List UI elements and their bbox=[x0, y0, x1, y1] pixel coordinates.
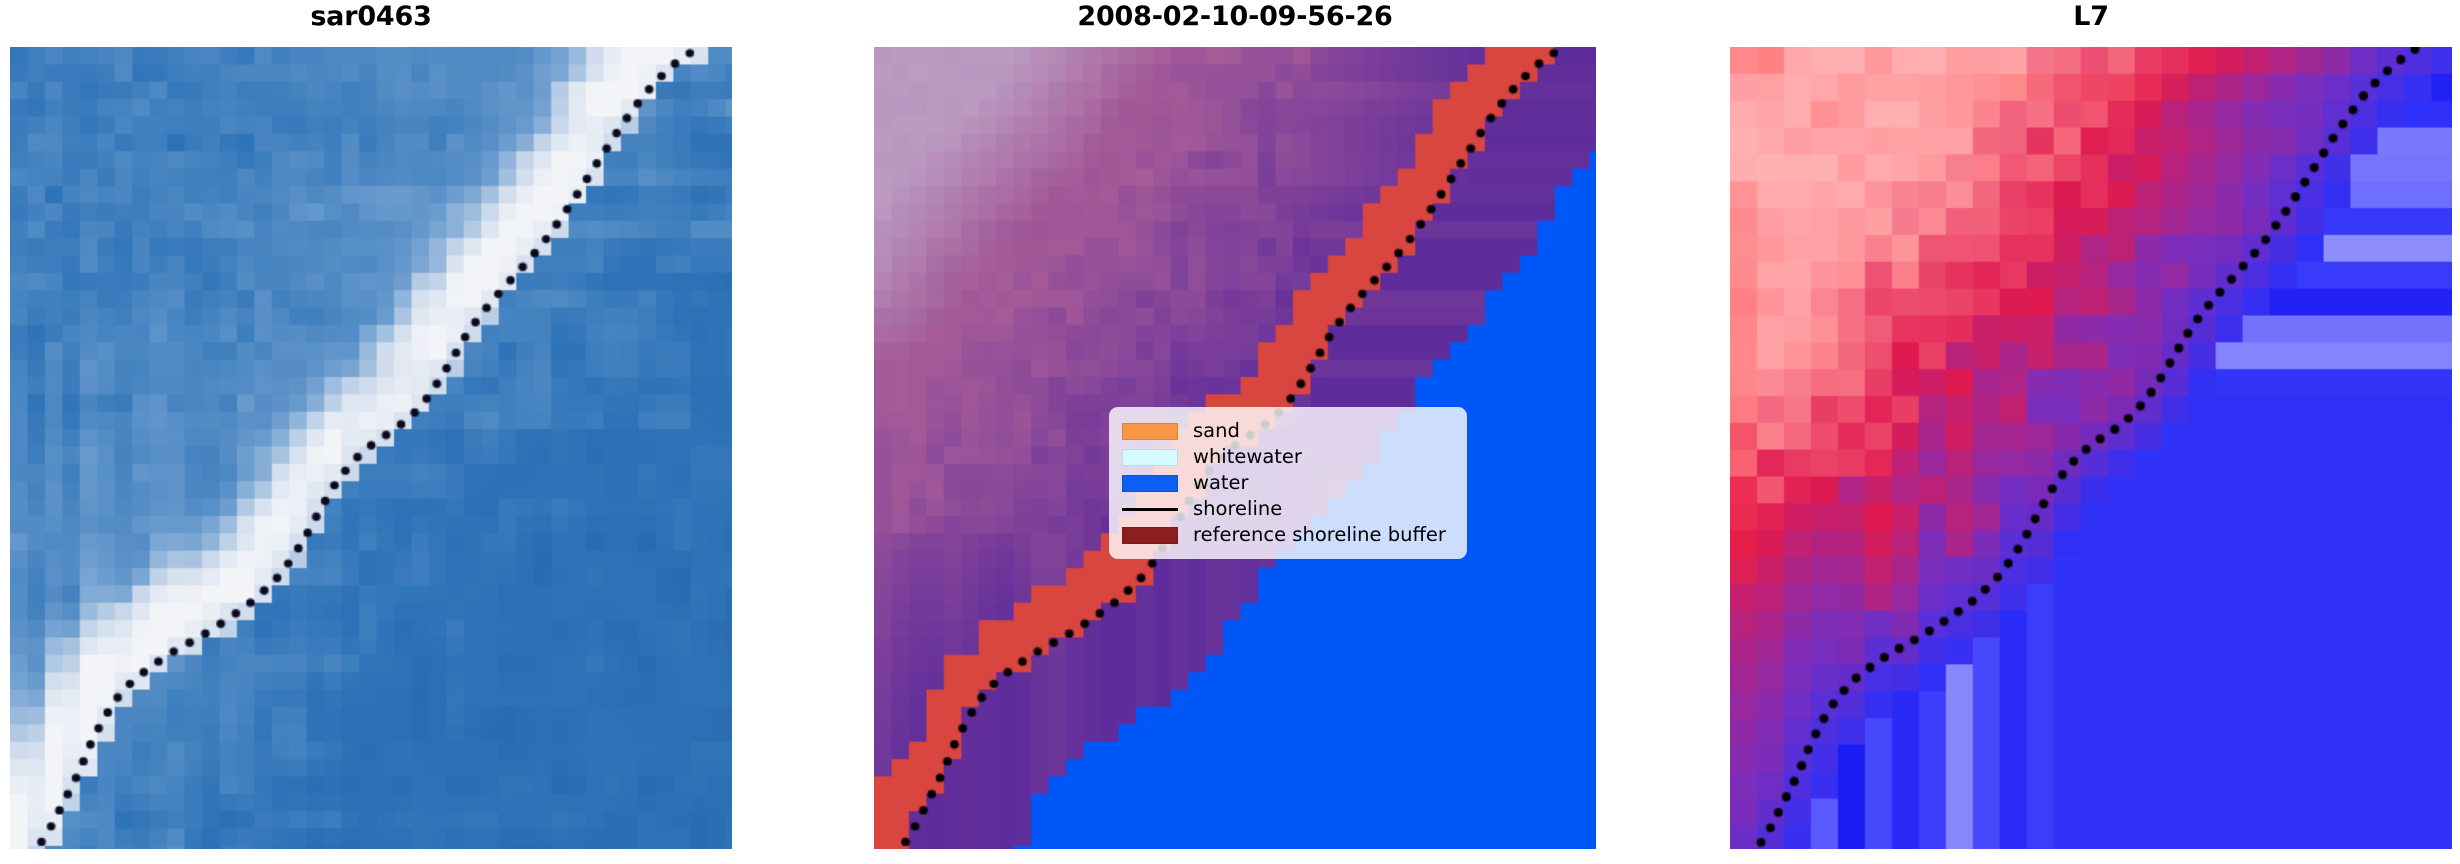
legend-swatch-water bbox=[1122, 475, 1178, 492]
legend-label-whitewater: whitewater bbox=[1193, 447, 1302, 467]
legend-item-water: water bbox=[1122, 470, 1453, 496]
panel-title-l7: L7 bbox=[1730, 0, 2452, 34]
sar-image bbox=[10, 47, 732, 849]
legend-item-whitewater: whitewater bbox=[1122, 444, 1453, 470]
legend-label-reference-buffer: reference shoreline buffer bbox=[1193, 525, 1446, 545]
legend-item-reference-buffer: reference shoreline buffer bbox=[1122, 522, 1453, 548]
legend-swatch-shoreline bbox=[1122, 501, 1178, 518]
legend-swatch-whitewater bbox=[1122, 449, 1178, 466]
axes-sar bbox=[10, 47, 732, 849]
legend-item-shoreline: shoreline bbox=[1122, 496, 1453, 522]
l7-image bbox=[1730, 47, 2452, 849]
panel-title-sar: sar0463 bbox=[10, 0, 732, 34]
legend-box: sand whitewater water shoreline bbox=[1109, 407, 1467, 559]
panel-l7: L7 bbox=[1730, 0, 2452, 864]
panel-classified: 2008-02-10-09-56-26 sand whitewater bbox=[874, 0, 1596, 864]
legend-swatch-reference-buffer bbox=[1122, 527, 1178, 544]
panel-title-classified: 2008-02-10-09-56-26 bbox=[874, 0, 1596, 34]
figure-canvas: sar0463 2008-02-10-09-56-26 sand whitewa… bbox=[0, 0, 2460, 864]
panel-sar: sar0463 bbox=[10, 0, 732, 864]
legend-item-sand: sand bbox=[1122, 418, 1453, 444]
legend-label-water: water bbox=[1193, 473, 1249, 493]
axes-l7 bbox=[1730, 47, 2452, 849]
legend-label-sand: sand bbox=[1193, 421, 1240, 441]
legend-label-shoreline: shoreline bbox=[1193, 499, 1282, 519]
legend-swatch-sand bbox=[1122, 423, 1178, 440]
